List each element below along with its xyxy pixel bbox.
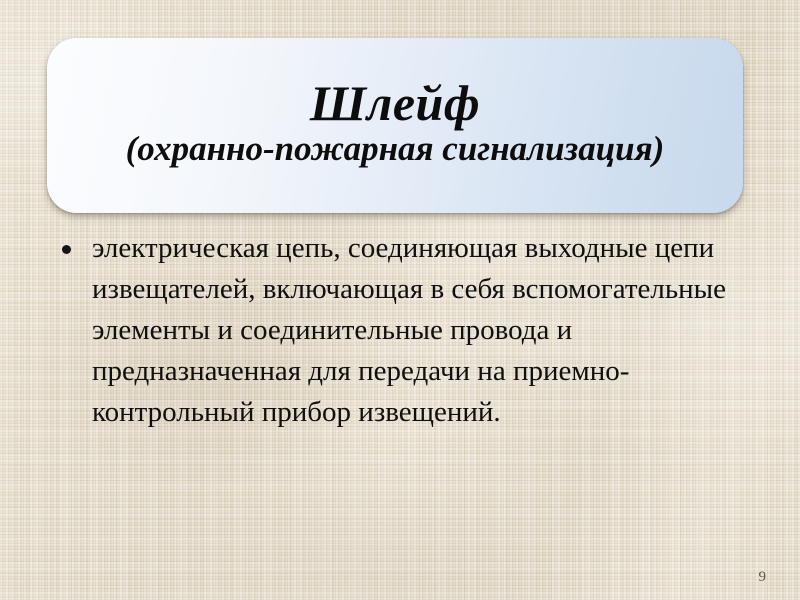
- list-item-text: электрическая цепь, соединяющая выходные…: [92, 232, 726, 428]
- presentation-slide: Шлейф (охранно-пожарная сигнализация) эл…: [0, 0, 800, 600]
- slide-title: Шлейф: [310, 78, 480, 129]
- bullet-dot-icon: [62, 245, 71, 254]
- body-bullet-list: электрическая цепь, соединяющая выходные…: [56, 228, 756, 433]
- slide-subtitle: (охранно-пожарная сигнализация): [126, 131, 665, 168]
- list-item: электрическая цепь, соединяющая выходные…: [56, 228, 756, 433]
- title-card: Шлейф (охранно-пожарная сигнализация): [47, 38, 743, 213]
- slide-number: 9: [759, 569, 767, 586]
